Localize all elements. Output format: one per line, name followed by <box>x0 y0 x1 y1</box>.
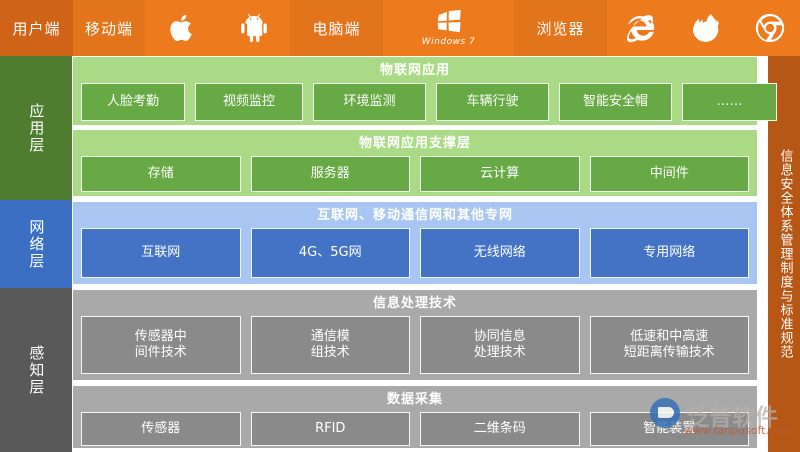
cell-wireless-network[interactable]: 无线网络 <box>420 228 580 278</box>
header-segment-firefox <box>673 0 739 56</box>
windows-icon <box>434 9 464 35</box>
header-segment-android <box>218 0 290 56</box>
header-segment-pc-client: 电脑端 <box>290 0 383 56</box>
band-row-application: 人脸考勤 视频监控 环境监测 车辆行驶 智能安全帽 …… <box>81 83 749 121</box>
band-row-acquisition: 传感器 RFID 二维条码 智能装置 <box>81 412 749 446</box>
cell-sensor[interactable]: 传感器 <box>81 412 241 446</box>
diagram-canvas: 用户端 移动端 电脑端 Windows 7 浏览器 <box>0 0 800 452</box>
band-row-processing: 传感器中 间件技术 通信模 组技术 协同信息 处理技术 低速和中高速 短距离传输… <box>81 316 749 374</box>
header-segment-windows: Windows 7 <box>383 0 514 56</box>
cell-vehicle-driving[interactable]: 车辆行驶 <box>436 83 549 121</box>
layer-label-perception-text: 感知层 <box>27 345 46 396</box>
layer-label-application: 应用层 <box>0 56 72 200</box>
header-label-windows: Windows 7 <box>422 38 475 47</box>
layer-label-application-text: 应用层 <box>27 103 46 154</box>
header-segment-user-client: 用户端 <box>0 0 73 56</box>
layer-rail-left: 应用层 网络层 感知层 <box>0 56 72 452</box>
firefox-icon <box>689 11 723 45</box>
header-segment-mobile-client: 移动端 <box>73 0 145 56</box>
layer-label-network-text: 网络层 <box>27 219 46 270</box>
band-processing: 信息处理技术 传感器中 间件技术 通信模 组技术 协同信息 处理技术 低速和中高… <box>72 289 758 381</box>
layer-label-perception: 感知层 <box>0 288 72 452</box>
band-title-acquisition: 数据采集 <box>81 393 749 406</box>
band-application: 物联网应用 人脸考勤 视频监控 环境监测 车辆行驶 智能安全帽 …… <box>72 56 758 126</box>
cell-video-surveillance[interactable]: 视频监控 <box>195 83 303 121</box>
cell-smart-device[interactable]: 智能装置 <box>590 412 750 446</box>
cell-sensor-middleware-tech[interactable]: 传感器中 间件技术 <box>81 316 241 374</box>
layer-label-network: 网络层 <box>0 200 72 288</box>
header-label-user-client: 用户端 <box>12 18 60 39</box>
cell-dedicated-network[interactable]: 专用网络 <box>590 228 750 278</box>
apple-icon <box>165 11 199 45</box>
band-network: 互联网、移动通信网和其他专网 互联网 4G、5G网 无线网络 专用网络 <box>72 201 758 285</box>
cell-middleware[interactable]: 中间件 <box>590 156 750 192</box>
header-segment-apple <box>145 0 218 56</box>
header-label-browser: 浏览器 <box>536 18 584 39</box>
header-label-mobile-client: 移动端 <box>85 18 133 39</box>
cell-application-more[interactable]: …… <box>682 83 777 121</box>
cell-communication-module-tech[interactable]: 通信模 组技术 <box>251 316 411 374</box>
header-segment-chrome <box>739 0 800 56</box>
cell-short-range-transmission-tech[interactable]: 低速和中高速 短距离传输技术 <box>590 316 750 374</box>
internet-explorer-icon <box>623 11 657 45</box>
band-acquisition: 数据采集 传感器 RFID 二维条码 智能装置 <box>72 385 758 449</box>
layer-stack: 物联网应用 人脸考勤 视频监控 环境监测 车辆行驶 智能安全帽 …… 物联网应用… <box>72 56 768 452</box>
band-support: 物联网应用支撑层 存储 服务器 云计算 中间件 <box>72 129 758 197</box>
cell-qr-code[interactable]: 二维条码 <box>420 412 580 446</box>
header-label-pc-client: 电脑端 <box>312 18 360 39</box>
band-title-support: 物联网应用支撑层 <box>81 137 749 150</box>
band-title-processing: 信息处理技术 <box>81 297 749 310</box>
security-standards-label: 信息安全体系管理制度与标准规范 <box>777 149 792 359</box>
chrome-icon <box>753 11 787 45</box>
client-header-bar: 用户端 移动端 电脑端 Windows 7 浏览器 <box>0 0 800 56</box>
cell-internet[interactable]: 互联网 <box>81 228 241 278</box>
header-segment-browser: 浏览器 <box>514 0 607 56</box>
band-row-support: 存储 服务器 云计算 中间件 <box>81 156 749 192</box>
header-segment-ie <box>607 0 673 56</box>
cell-cloud-computing[interactable]: 云计算 <box>420 156 580 192</box>
cell-server[interactable]: 服务器 <box>251 156 411 192</box>
cell-environment-monitoring[interactable]: 环境监测 <box>313 83 426 121</box>
band-title-application: 物联网应用 <box>81 64 749 77</box>
android-icon <box>237 11 271 45</box>
cell-smart-helmet[interactable]: 智能安全帽 <box>559 83 672 121</box>
cell-rfid[interactable]: RFID <box>251 412 411 446</box>
cell-face-attendance[interactable]: 人脸考勤 <box>81 83 185 121</box>
band-title-network: 互联网、移动通信网和其他专网 <box>81 209 749 222</box>
cell-collaborative-info-processing-tech[interactable]: 协同信息 处理技术 <box>420 316 580 374</box>
cell-storage[interactable]: 存储 <box>81 156 241 192</box>
cell-4g-5g-network[interactable]: 4G、5G网 <box>251 228 411 278</box>
band-row-network: 互联网 4G、5G网 无线网络 专用网络 <box>81 228 749 278</box>
